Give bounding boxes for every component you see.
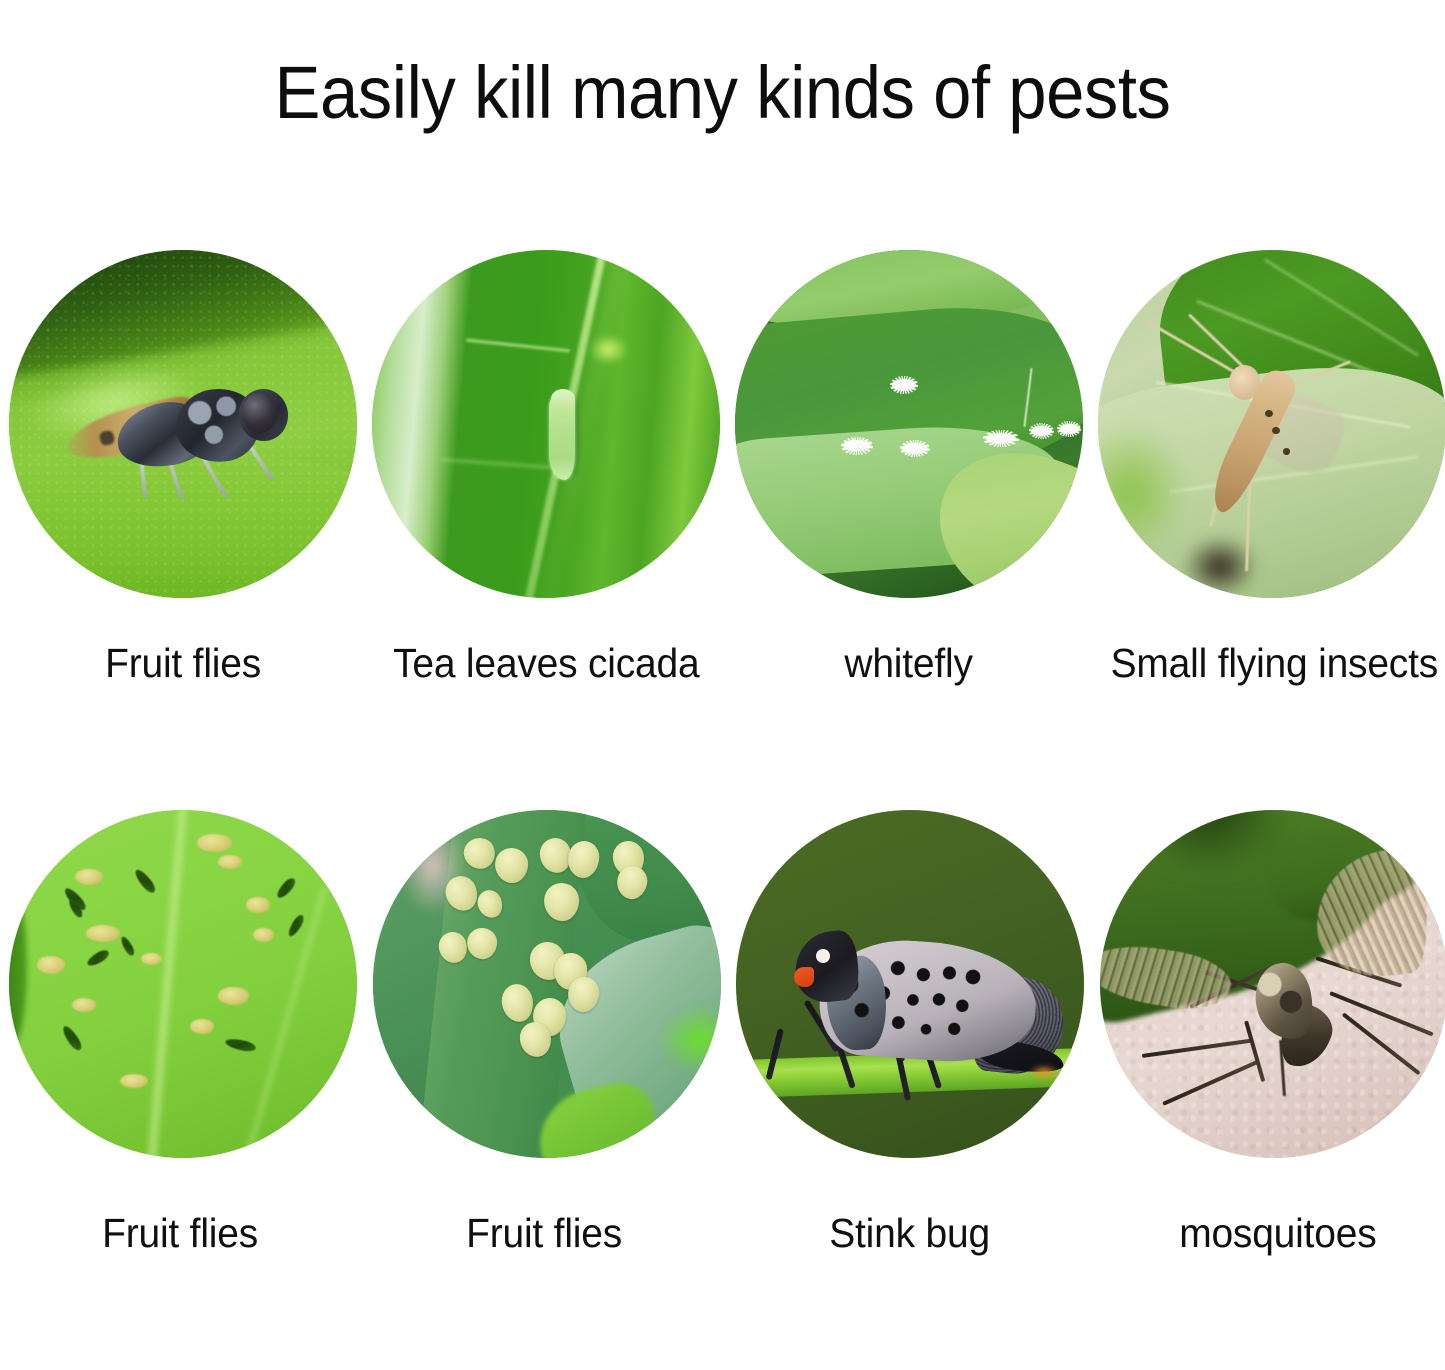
small-flying-insect-on-leaf-photo [1098, 250, 1445, 598]
pest-item-fruit-flies-2[interactable]: Fruit flies [0, 810, 361, 1257]
aphids-on-stem-photo [373, 810, 721, 1158]
pest-grid: Fruit flies Tea leaves cicada [0, 250, 1445, 1370]
pest-item-mosquitoes[interactable]: mosquitoes [1084, 810, 1445, 1257]
pest-label: mosquitoes [1179, 1210, 1376, 1257]
pest-item-whitefly[interactable]: whitefly [723, 250, 1084, 687]
pest-item-tea-leaves-cicada[interactable]: Tea leaves cicada [361, 250, 722, 687]
pest-label: Tea leaves cicada [393, 640, 699, 687]
pest-label: whitefly [844, 640, 972, 687]
page-title: Easily kill many kinds of pests [51, 50, 1395, 140]
pest-label: Fruit flies [105, 640, 261, 687]
pest-row-bottom: Fruit flies Fruit flies [0, 810, 1445, 1370]
fruit-fly-larvae-on-leaf-photo [9, 810, 357, 1158]
tea-leaf-cicada-nymph-photo [372, 250, 720, 598]
spotted-lanternfly-on-stem-photo [736, 810, 1084, 1158]
pest-item-fruit-flies-3[interactable]: Fruit flies [361, 810, 722, 1257]
pest-label: Stink bug [829, 1210, 990, 1257]
mosquito-on-skin-photo [1100, 810, 1445, 1158]
pest-row-top: Fruit flies Tea leaves cicada [0, 250, 1445, 810]
pest-label: Fruit flies [102, 1210, 258, 1257]
pest-item-small-flying-insects[interactable]: Small flying insects [1084, 250, 1445, 687]
pest-label: Fruit flies [466, 1210, 622, 1257]
pest-label: Small flying insects [1111, 640, 1438, 687]
whitefly-nymphs-on-leaf-photo [735, 250, 1083, 598]
pest-item-stink-bug[interactable]: Stink bug [723, 810, 1084, 1257]
pest-item-fruit-flies-1[interactable]: Fruit flies [0, 250, 361, 687]
fruit-fly-on-leaf-photo [9, 250, 357, 598]
